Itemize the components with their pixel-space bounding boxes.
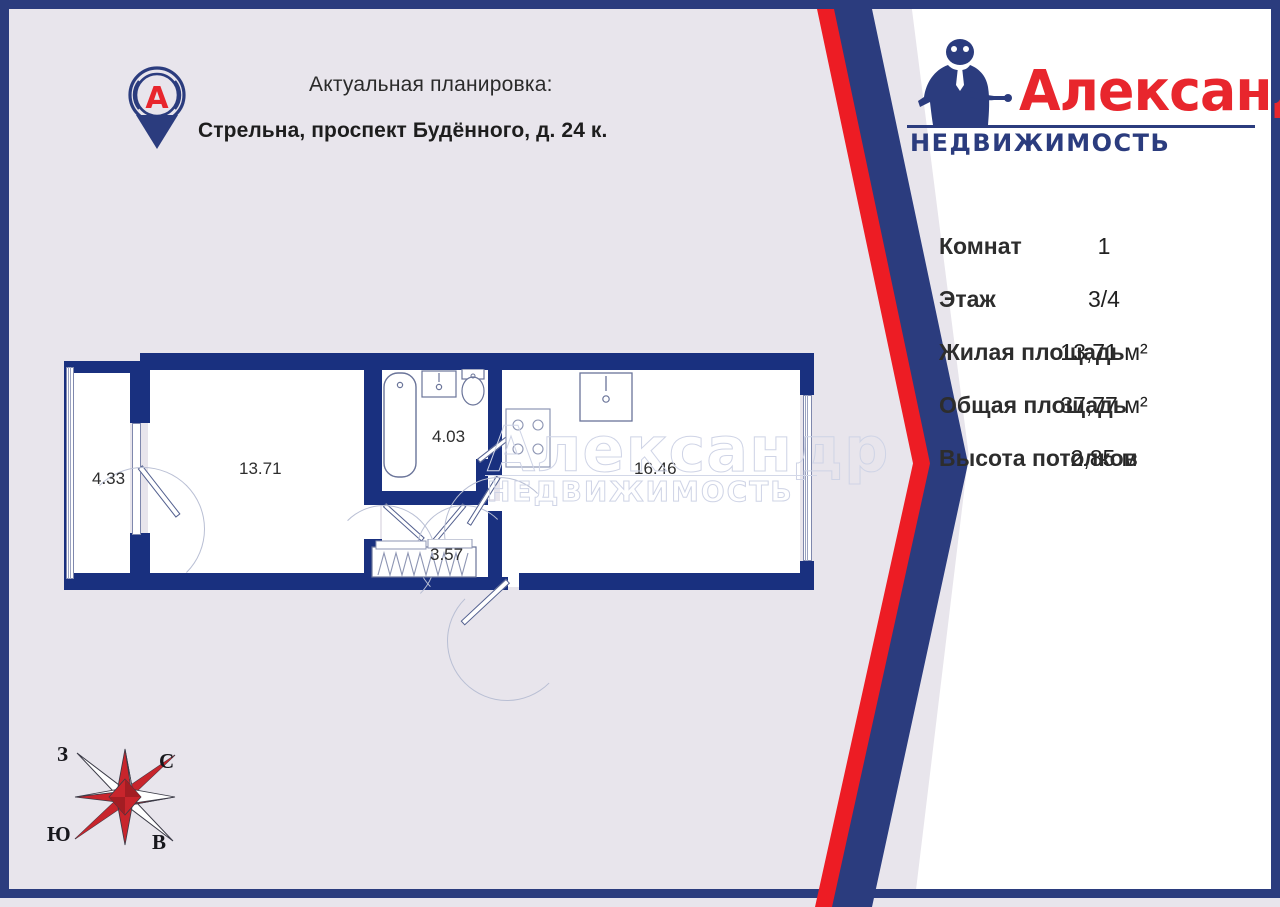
living-area-label: Жилая площадь: [939, 339, 1125, 366]
floor-plan-drawing: 4.33 13.71 4.03 3.57 16.46: [64, 349, 824, 649]
compass-label-west: З: [57, 742, 68, 767]
area-label-hallway: 3.57: [430, 545, 463, 565]
wall-right-outer-t: [800, 353, 814, 395]
bathtub-icon: [384, 373, 416, 477]
wall-living-bath: [364, 353, 382, 493]
door-entrance-arc: [447, 581, 567, 701]
wall-balcony-living-top: [130, 361, 150, 423]
window-balcony-left-inner: [68, 367, 71, 579]
company-logo: Александр НЕДВИЖИМОСТЬ: [904, 37, 1259, 172]
area-label-kitchen: 16.46: [634, 459, 677, 479]
compass-label-south: Ю: [47, 822, 71, 847]
compass-rose: З С Ю В: [47, 727, 207, 867]
svg-text:А: А: [145, 81, 169, 116]
rooms-label: Комнат: [939, 233, 1022, 260]
logo-tagline-text: НЕДВИЖИМОСТЬ: [910, 129, 1170, 157]
wall-top-outer: [140, 353, 812, 370]
logo-brand-text: Александр: [1019, 59, 1280, 124]
logo-divider-rule: [907, 125, 1255, 128]
window-right-inner: [805, 395, 808, 561]
compass-label-north: С: [159, 749, 174, 774]
wall-right-outer-b: [800, 561, 814, 590]
area-label-living: 13.71: [239, 459, 282, 479]
header-subtitle: Актуальная планировка:: [309, 73, 553, 97]
property-info-panel: Комнат 1 Этаж 3/4 Жилая площадь 13,71 м²…: [939, 233, 1269, 472]
wall-bottom-right: [519, 573, 812, 590]
ceiling-height-label: Высота потолков: [939, 445, 1138, 472]
total-area-label: Общая площадь: [939, 392, 1127, 419]
floor-label: Этаж: [939, 286, 996, 313]
man-with-key-icon: [904, 39, 1014, 131]
compass-rose-icon: [47, 727, 207, 867]
stove-icon: [506, 409, 550, 467]
toilet-icon: [462, 377, 484, 405]
compass-label-east: В: [152, 830, 166, 855]
floor-plan-page: А Актуальная планировка: Стрельна, просп…: [0, 0, 1280, 898]
map-pin-a-icon: А: [127, 65, 187, 151]
header-address: Стрельна, проспект Будённого, д. 24 к.: [198, 119, 607, 143]
area-label-balcony: 4.33: [92, 469, 125, 489]
closet-icon: [370, 539, 484, 587]
area-label-bathroom: 4.03: [432, 427, 465, 447]
